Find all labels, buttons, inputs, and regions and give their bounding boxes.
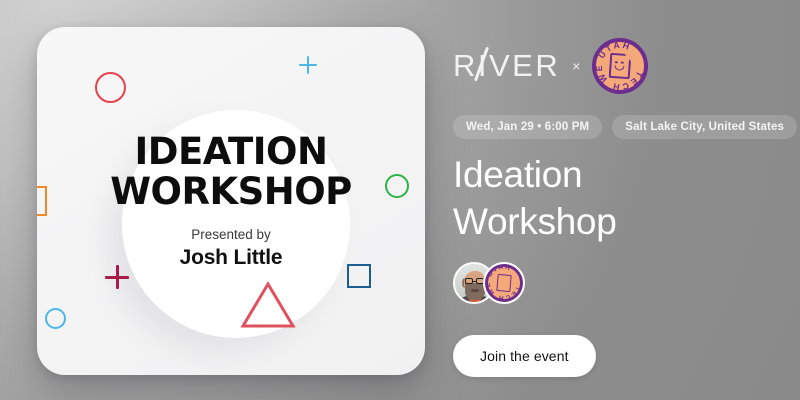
event-title: Ideation Workshop — [453, 152, 783, 245]
utah-tech-week-badge[interactable]: UTAH TECH WEEK — [592, 38, 648, 94]
host-avatar-group[interactable]: UTAH TECH WEEK — [453, 262, 525, 304]
flyer-text-block: IDEATION WORKSHOP Presented by Josh Litt… — [37, 27, 425, 375]
event-details-panel: RIVER × UTAH TECH WEEK — [445, 0, 800, 400]
river-logo-text: RIVER — [453, 48, 560, 84]
flyer-title: IDEATION WORKSHOP — [110, 132, 352, 212]
flyer-presented-label: Presented by — [191, 227, 271, 242]
avatar-badge-document-icon — [496, 274, 511, 292]
event-location-pill: Salt Lake City, United States — [612, 115, 797, 139]
avatar-photo-glasses-bridge — [473, 281, 476, 282]
river-logo[interactable]: RIVER — [453, 48, 560, 84]
event-meta-pills: Wed, Jan 29 • 6:00 PM Salt Lake City, Un… — [453, 115, 797, 139]
event-flyer-card: IDEATION WORKSHOP Presented by Josh Litt… — [37, 27, 425, 375]
host-avatar-badge[interactable]: UTAH TECH WEEK — [483, 262, 525, 304]
avatar-photo-mouth — [471, 289, 479, 292]
badge-document-icon — [609, 53, 632, 79]
avatar-photo-glasses-left — [465, 278, 473, 284]
event-date-pill: Wed, Jan 29 • 6:00 PM — [453, 115, 602, 139]
collaboration-x-icon: × — [572, 58, 580, 74]
event-promo-banner: IDEATION WORKSHOP Presented by Josh Litt… — [0, 0, 800, 400]
join-event-button[interactable]: Join the event — [453, 335, 596, 377]
brand-row: RIVER × UTAH TECH WEEK — [453, 38, 648, 94]
flyer-speaker-name: Josh Little — [180, 246, 283, 270]
